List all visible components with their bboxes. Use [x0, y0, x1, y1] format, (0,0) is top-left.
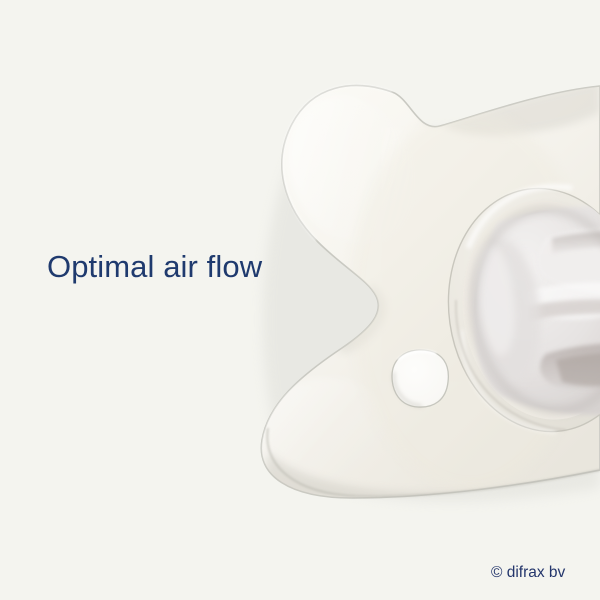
product-image-canvas: Optimal air flow © difrax bv: [0, 0, 600, 600]
air-hole: [392, 350, 448, 407]
headline-text: Optimal air flow: [47, 248, 262, 286]
copyright-notice: © difrax bv: [491, 563, 565, 582]
pacifier-product-photo: [0, 0, 600, 600]
